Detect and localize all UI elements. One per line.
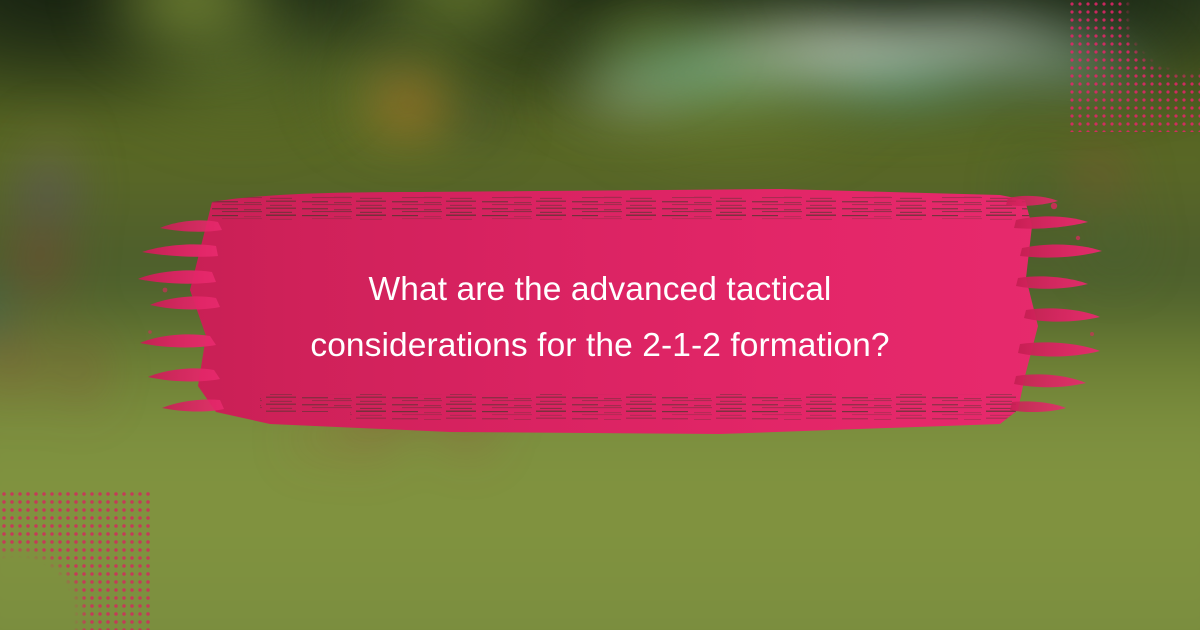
- question-headline: What are the advanced tactical considera…: [150, 262, 1050, 374]
- headline-line-2: considerations for the 2-1-2 formation?: [150, 318, 1050, 374]
- question-card: What are the advanced tactical considera…: [0, 0, 1200, 630]
- headline-line-1: What are the advanced tactical: [150, 262, 1050, 318]
